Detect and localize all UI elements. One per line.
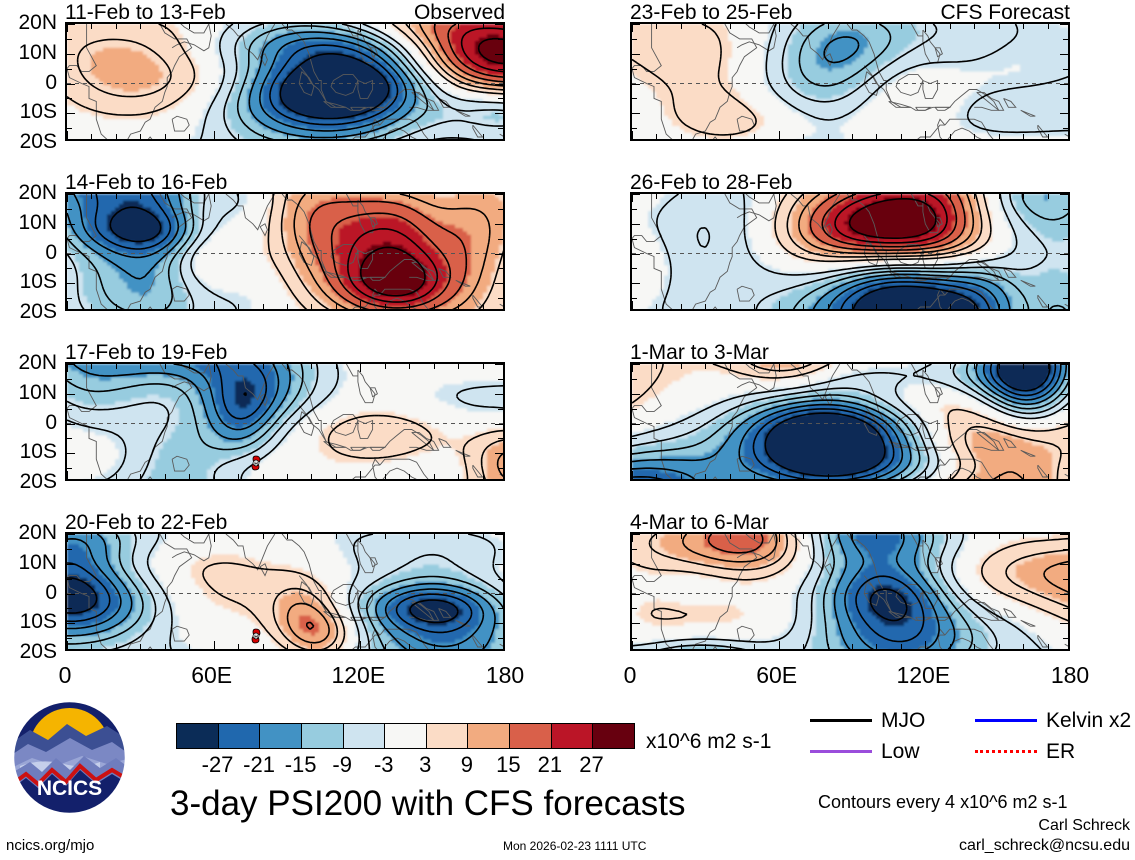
- x-tick: [950, 474, 951, 479]
- x-tick: [91, 474, 92, 479]
- y-axis-label: 20N: [0, 352, 57, 373]
- x-tick: [483, 474, 484, 479]
- x-tick: [165, 24, 166, 29]
- y-tick: [495, 24, 503, 25]
- x-tick: [754, 534, 755, 539]
- y-tick: [67, 564, 75, 565]
- x-tick: [116, 474, 117, 479]
- y-tick: [67, 69, 72, 70]
- x-tick: [287, 364, 288, 369]
- x-tick: [214, 131, 215, 139]
- x-tick: [852, 134, 853, 139]
- x-axis-label: 120E: [318, 664, 398, 687]
- x-tick: [458, 644, 459, 649]
- y-tick: [632, 364, 640, 365]
- y-tick: [67, 453, 75, 454]
- field-shading: [67, 24, 505, 141]
- y-tick: [632, 298, 637, 299]
- x-tick: [705, 644, 706, 649]
- x-tick: [1048, 644, 1049, 649]
- y-tick: [495, 453, 503, 454]
- x-tick: [409, 474, 410, 479]
- y-tick: [1060, 594, 1068, 595]
- y-tick: [67, 594, 75, 595]
- x-tick: [876, 24, 877, 29]
- y-tick: [495, 424, 503, 425]
- y-tick: [498, 608, 503, 609]
- legend-item-kelvin-x2: Kelvin x2: [975, 710, 1131, 731]
- x-tick: [336, 134, 337, 139]
- y-tick: [1060, 54, 1068, 55]
- x-tick: [999, 24, 1000, 29]
- x-tick: [140, 474, 141, 479]
- x-tick: [238, 534, 239, 539]
- x-tick: [950, 194, 951, 199]
- y-tick: [1060, 194, 1068, 195]
- field-shading: [67, 534, 505, 651]
- x-tick: [999, 194, 1000, 199]
- x-tick: [901, 24, 902, 29]
- y-tick: [1063, 268, 1068, 269]
- y-tick: [67, 24, 75, 25]
- x-tick: [974, 134, 975, 139]
- x-axis-label: 60E: [737, 664, 817, 687]
- x-tick: [925, 131, 926, 139]
- y-tick: [1060, 424, 1068, 425]
- y-tick: [632, 224, 640, 225]
- x-tick: [901, 644, 902, 649]
- map-panel: [630, 532, 1070, 651]
- x-tick: [360, 194, 361, 202]
- y-tick: [1063, 438, 1068, 439]
- x-axis-label: 60E: [172, 664, 252, 687]
- x-tick: [385, 534, 386, 539]
- x-tick: [165, 304, 166, 309]
- y-axis-label: 20N: [0, 182, 57, 203]
- map-panel: [630, 192, 1070, 311]
- colorbar-tick-label: 27: [561, 754, 621, 776]
- x-tick: [754, 474, 755, 479]
- x-tick: [287, 194, 288, 199]
- x-tick: [656, 304, 657, 309]
- x-tick: [999, 474, 1000, 479]
- y-tick: [632, 468, 637, 469]
- x-tick: [779, 24, 780, 32]
- y-tick: [67, 268, 72, 269]
- x-tick: [852, 534, 853, 539]
- y-tick: [1063, 98, 1068, 99]
- y-tick: [1063, 128, 1068, 129]
- colorbar-swatch: [259, 724, 301, 748]
- x-tick: [458, 304, 459, 309]
- x-tick: [140, 134, 141, 139]
- x-tick: [681, 644, 682, 649]
- x-tick: [779, 364, 780, 372]
- y-axis-label: 10S: [0, 611, 57, 632]
- x-tick: [214, 364, 215, 372]
- x-tick: [434, 644, 435, 649]
- x-tick: [705, 534, 706, 539]
- x-tick: [779, 641, 780, 649]
- x-tick: [165, 134, 166, 139]
- x-tick: [116, 644, 117, 649]
- x-tick: [165, 364, 166, 369]
- y-tick: [1060, 453, 1068, 454]
- x-tick: [116, 24, 117, 29]
- x-tick: [189, 364, 190, 369]
- y-tick: [1060, 84, 1068, 85]
- y-tick: [67, 254, 75, 255]
- y-axis-label: 20N: [0, 522, 57, 543]
- y-tick: [632, 594, 640, 595]
- x-tick: [483, 364, 484, 369]
- y-tick: [495, 623, 503, 624]
- y-tick: [67, 283, 75, 284]
- y-tick: [1063, 409, 1068, 410]
- y-tick: [632, 409, 637, 410]
- y-tick: [1063, 579, 1068, 580]
- y-tick: [632, 564, 640, 565]
- x-tick: [67, 194, 68, 202]
- x-tick: [632, 301, 633, 309]
- y-tick: [498, 379, 503, 380]
- x-tick: [705, 24, 706, 29]
- y-tick: [67, 579, 72, 580]
- y-axis-label: 0: [0, 72, 57, 93]
- y-tick: [495, 594, 503, 595]
- x-tick: [999, 644, 1000, 649]
- y-tick: [67, 128, 72, 129]
- y-tick: [498, 468, 503, 469]
- x-tick: [632, 24, 633, 32]
- x-tick: [681, 304, 682, 309]
- x-tick: [730, 194, 731, 199]
- x-tick: [116, 364, 117, 369]
- x-tick: [458, 134, 459, 139]
- colorbar: [176, 723, 635, 749]
- x-tick: [311, 134, 312, 139]
- x-tick: [360, 131, 361, 139]
- x-tick: [681, 24, 682, 29]
- x-tick: [901, 134, 902, 139]
- x-tick: [1048, 24, 1049, 29]
- tropical-cyclone-marker: H: [249, 628, 263, 644]
- legend-item-mjo: MJO: [810, 710, 925, 731]
- x-tick: [705, 304, 706, 309]
- y-tick: [67, 623, 75, 624]
- y-tick: [632, 113, 640, 114]
- panel-title: 26-Feb to 28-Feb: [630, 172, 792, 193]
- figure-title: 3-day PSI200 with CFS forecasts: [170, 786, 686, 821]
- y-tick: [498, 39, 503, 40]
- y-tick: [495, 364, 503, 365]
- field-shading: [632, 24, 1070, 141]
- x-tick: [730, 534, 731, 539]
- x-axis-label: 180: [1030, 664, 1110, 687]
- y-tick: [495, 224, 503, 225]
- x-tick: [656, 364, 657, 369]
- field-shading: [632, 534, 1070, 651]
- y-tick: [495, 54, 503, 55]
- colorbar-swatch: [343, 724, 385, 748]
- x-tick: [311, 534, 312, 539]
- y-tick: [67, 379, 72, 380]
- x-tick: [91, 534, 92, 539]
- x-tick: [287, 24, 288, 29]
- x-tick: [238, 134, 239, 139]
- field-shading: [67, 194, 505, 311]
- y-tick: [1060, 394, 1068, 395]
- x-tick: [1023, 364, 1024, 369]
- x-tick: [409, 534, 410, 539]
- panel-title: 17-Feb to 19-Feb: [65, 342, 227, 363]
- x-tick: [828, 364, 829, 369]
- y-tick: [632, 623, 640, 624]
- x-tick: [803, 364, 804, 369]
- x-tick: [434, 364, 435, 369]
- y-tick: [1060, 113, 1068, 114]
- x-tick: [263, 534, 264, 539]
- x-tick: [925, 364, 926, 372]
- x-tick: [974, 474, 975, 479]
- y-tick: [495, 194, 503, 195]
- x-tick: [385, 194, 386, 199]
- x-tick: [1023, 534, 1024, 539]
- x-tick: [189, 194, 190, 199]
- legend-line-swatch: [975, 750, 1037, 753]
- x-tick: [263, 644, 264, 649]
- x-tick: [189, 644, 190, 649]
- x-tick: [483, 24, 484, 29]
- y-tick: [67, 424, 75, 425]
- colorbar-swatch: [218, 724, 260, 748]
- x-tick: [214, 301, 215, 309]
- x-tick: [828, 194, 829, 199]
- x-tick: [730, 474, 731, 479]
- x-tick: [1023, 24, 1024, 29]
- x-tick: [974, 534, 975, 539]
- x-tick: [974, 644, 975, 649]
- y-tick: [498, 69, 503, 70]
- x-tick: [263, 364, 264, 369]
- x-tick: [409, 644, 410, 649]
- x-tick: [1048, 474, 1049, 479]
- ncics-logo: NCICS: [12, 700, 127, 815]
- x-tick: [434, 24, 435, 29]
- y-tick: [1063, 468, 1068, 469]
- panel-title: 23-Feb to 25-Feb: [630, 2, 792, 23]
- y-tick: [67, 534, 75, 535]
- x-tick: [1023, 644, 1024, 649]
- x-tick: [360, 471, 361, 479]
- y-tick: [67, 438, 72, 439]
- x-tick: [901, 534, 902, 539]
- x-tick: [263, 304, 264, 309]
- y-tick: [495, 113, 503, 114]
- y-tick: [632, 608, 637, 609]
- x-tick: [263, 134, 264, 139]
- legend-item-er: ER: [975, 741, 1075, 762]
- y-axis-label: 20S: [0, 471, 57, 492]
- x-tick: [999, 364, 1000, 369]
- x-tick: [974, 304, 975, 309]
- y-tick: [1060, 623, 1068, 624]
- x-tick: [632, 194, 633, 202]
- panel-title: 14-Feb to 16-Feb: [65, 172, 227, 193]
- x-tick: [91, 134, 92, 139]
- y-tick: [632, 128, 637, 129]
- x-tick: [483, 134, 484, 139]
- x-tick: [1048, 134, 1049, 139]
- x-tick: [360, 364, 361, 372]
- legend-label: Low: [881, 741, 920, 762]
- x-tick: [287, 474, 288, 479]
- y-tick: [498, 268, 503, 269]
- y-axis-label: 10N: [0, 382, 57, 403]
- map-panel: [65, 362, 505, 481]
- y-axis-label: 10N: [0, 42, 57, 63]
- x-tick: [681, 194, 682, 199]
- x-tick: [681, 364, 682, 369]
- legend-line-swatch: [975, 719, 1037, 722]
- x-tick: [656, 474, 657, 479]
- x-tick: [754, 364, 755, 369]
- x-tick: [238, 644, 239, 649]
- y-tick: [498, 409, 503, 410]
- x-tick: [803, 304, 804, 309]
- x-tick: [901, 304, 902, 309]
- colorbar-swatch: [509, 724, 551, 748]
- x-tick: [950, 134, 951, 139]
- x-tick: [974, 364, 975, 369]
- tropical-cyclone-marker: H: [249, 455, 263, 471]
- x-tick: [656, 534, 657, 539]
- y-tick: [1060, 564, 1068, 565]
- ncics-logo-text: NCICS: [37, 777, 102, 800]
- x-tick: [140, 304, 141, 309]
- y-tick: [1060, 283, 1068, 284]
- y-tick: [632, 453, 640, 454]
- x-tick: [385, 304, 386, 309]
- x-tick: [311, 24, 312, 29]
- ncics-logo-graphic: NCICS: [12, 700, 127, 815]
- x-tick: [434, 534, 435, 539]
- x-tick: [336, 24, 337, 29]
- x-tick: [925, 534, 926, 542]
- x-tick: [950, 304, 951, 309]
- x-tick: [779, 301, 780, 309]
- shaded-anomaly-field: [632, 534, 1070, 651]
- x-tick: [189, 24, 190, 29]
- y-tick: [1063, 69, 1068, 70]
- y-tick: [67, 113, 75, 114]
- x-tick: [803, 644, 804, 649]
- x-tick: [165, 474, 166, 479]
- x-tick: [779, 534, 780, 542]
- x-tick: [925, 301, 926, 309]
- x-tick: [458, 474, 459, 479]
- y-tick: [67, 638, 72, 639]
- x-tick: [336, 534, 337, 539]
- x-tick: [385, 474, 386, 479]
- x-tick: [409, 134, 410, 139]
- legend-label: ER: [1046, 741, 1075, 762]
- x-tick: [754, 194, 755, 199]
- y-tick: [498, 239, 503, 240]
- contour-legend: MJOKelvin x2LowER: [810, 710, 1135, 772]
- x-tick: [238, 194, 239, 199]
- colorbar-swatch: [301, 724, 343, 748]
- x-tick: [1023, 134, 1024, 139]
- y-tick: [495, 394, 503, 395]
- x-tick: [458, 194, 459, 199]
- y-axis-label: 0: [0, 582, 57, 603]
- x-tick: [67, 534, 68, 542]
- y-tick: [632, 379, 637, 380]
- colorbar-swatch: [592, 724, 634, 748]
- x-tick: [67, 24, 68, 32]
- y-tick: [67, 54, 75, 55]
- x-tick: [974, 194, 975, 199]
- x-tick: [434, 304, 435, 309]
- x-tick: [950, 534, 951, 539]
- x-tick: [336, 304, 337, 309]
- y-tick: [67, 468, 72, 469]
- x-tick: [730, 644, 731, 649]
- x-tick: [311, 644, 312, 649]
- x-tick: [705, 474, 706, 479]
- x-tick: [754, 134, 755, 139]
- y-tick: [632, 549, 637, 550]
- y-axis-label: 10S: [0, 441, 57, 462]
- y-tick: [67, 608, 72, 609]
- y-tick: [1063, 209, 1068, 210]
- x-tick: [925, 641, 926, 649]
- y-axis-label: 0: [0, 412, 57, 433]
- x-tick: [852, 194, 853, 199]
- y-axis-label: 10N: [0, 552, 57, 573]
- author-name: Carl Schreck: [835, 818, 1130, 834]
- y-tick: [67, 98, 72, 99]
- x-tick: [214, 471, 215, 479]
- x-tick: [828, 474, 829, 479]
- x-tick: [91, 364, 92, 369]
- x-tick: [803, 134, 804, 139]
- x-tick: [632, 131, 633, 139]
- x-tick: [287, 134, 288, 139]
- x-tick: [828, 304, 829, 309]
- y-axis-label: 10N: [0, 212, 57, 233]
- field-shading: [67, 364, 505, 481]
- legend-label: MJO: [881, 710, 925, 731]
- x-axis-label: 180: [465, 664, 545, 687]
- colorbar-units-label: x10^6 m2 s-1: [646, 731, 771, 752]
- legend-line-swatch: [810, 750, 872, 753]
- x-tick: [434, 194, 435, 199]
- y-tick: [498, 209, 503, 210]
- field-shading: [632, 194, 1070, 311]
- x-tick: [999, 304, 1000, 309]
- y-tick: [632, 24, 640, 25]
- x-tick: [950, 364, 951, 369]
- x-tick: [360, 301, 361, 309]
- y-tick: [1060, 534, 1068, 535]
- x-tick: [999, 534, 1000, 539]
- y-tick: [632, 239, 637, 240]
- x-tick: [140, 534, 141, 539]
- x-tick: [632, 534, 633, 542]
- x-tick: [458, 534, 459, 539]
